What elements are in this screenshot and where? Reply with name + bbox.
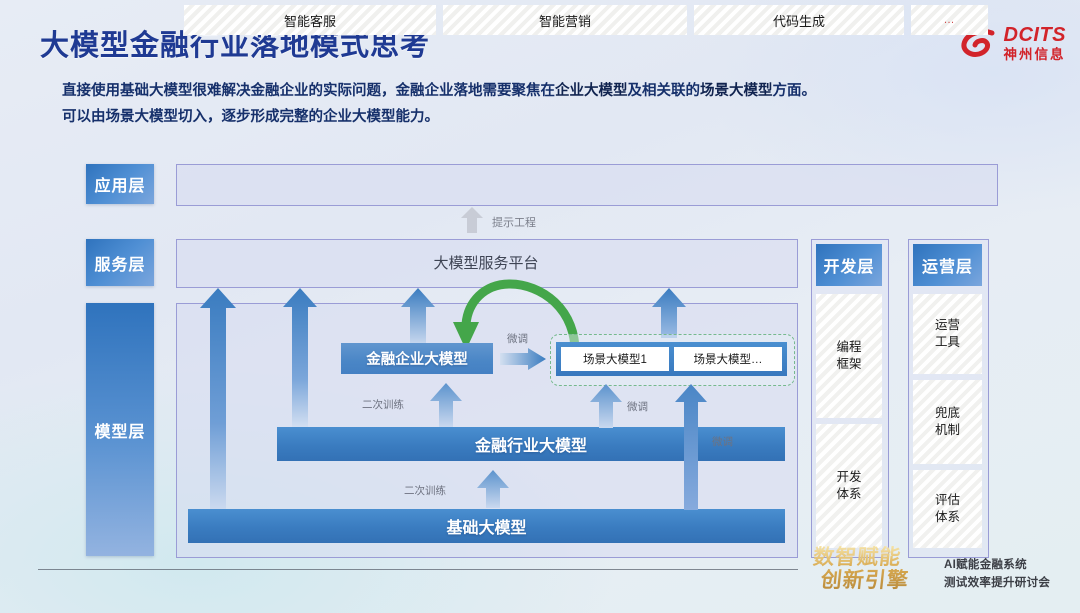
up-arrow-finetune-industry-to-scene-icon xyxy=(590,384,622,428)
layer-tag-service: 服务层 xyxy=(86,239,154,286)
scene-cell-1-label: 场景大模型1 xyxy=(583,351,647,367)
up-arrow-base-to-service-icon xyxy=(200,288,236,513)
application-cell-marketing[interactable]: 智能营销 xyxy=(443,5,687,35)
right-arrow-finetune-enterprise-to-scene-icon xyxy=(500,348,546,370)
subtitle-part-2: 及相关联的 xyxy=(628,83,701,99)
dev-cell-line2: 体系 xyxy=(836,487,861,501)
ops-cell-line2: 机制 xyxy=(935,423,960,437)
layer-tag-service-label: 服务层 xyxy=(94,251,145,275)
up-arrow-retrain-base-to-industry-icon xyxy=(477,470,509,508)
bar-enterprise-model-label: 金融企业大模型 xyxy=(366,348,468,369)
logo-en: DCITS xyxy=(1004,25,1067,45)
ops-cell-line2: 体系 xyxy=(935,510,960,524)
bar-enterprise-model[interactable]: 金融企业大模型 xyxy=(341,343,493,374)
layer-tag-model: 模型层 xyxy=(86,303,154,556)
dcits-logo-text: DCITS 神州信息 xyxy=(1004,25,1067,62)
bar-base-model-label: 基础大模型 xyxy=(446,514,526,538)
application-cell-more[interactable]: … xyxy=(911,5,988,35)
page-subtitle: 直接使用基础大模型很难解决金融企业的实际问题，金融企业落地需要聚焦在企业大模型及… xyxy=(62,78,992,130)
subtitle-part-3: 方面。 xyxy=(773,83,817,99)
dev-cell-line1: 开发 xyxy=(836,470,861,484)
layer-tag-model-label: 模型层 xyxy=(94,418,145,442)
application-cell-customer-service[interactable]: 智能客服 xyxy=(184,5,436,35)
ops-cell-line2: 工具 xyxy=(935,335,960,349)
layer-tag-application: 应用层 xyxy=(86,164,154,204)
event-subtitle-line2: 测试效率提升研讨会 xyxy=(944,574,1050,592)
slide-root: 大模型金融行业落地模式思考 直接使用基础大模型很难解决金融企业的实际问题，金融企… xyxy=(0,0,1080,613)
dev-layer-title-label: 开发层 xyxy=(823,253,874,277)
ops-cell-evaluation-system[interactable]: 评估 体系 xyxy=(913,470,982,548)
subtitle-line-2: 可以由场景大模型切入，逐步形成完整的企业大模型能力。 xyxy=(62,109,439,125)
label-retrain-base: 二次训练 xyxy=(404,483,446,498)
dev-layer-title: 开发层 xyxy=(816,244,882,286)
label-finetune-base-to-scene: 微调 xyxy=(712,434,733,449)
up-arrow-finetune-base-to-scene-icon xyxy=(675,384,707,510)
subtitle-part-1: 直接使用基础大模型很难解决金融企业的实际问题，金融企业落地需要聚焦在 xyxy=(62,83,555,99)
up-arrow-scene-to-service-icon xyxy=(652,288,686,338)
bar-base-model[interactable]: 基础大模型 xyxy=(188,509,785,543)
application-cell-label: … xyxy=(944,14,956,26)
logo-cn: 神州信息 xyxy=(1004,48,1067,62)
bar-industry-model-label: 金融行业大模型 xyxy=(475,432,587,456)
application-layer-panel xyxy=(176,164,998,206)
footer-divider xyxy=(38,569,798,570)
event-watermark-line1: 数智赋能 xyxy=(812,546,934,569)
dev-cell-line2: 框架 xyxy=(836,357,861,371)
label-finetune-industry-to-scene: 微调 xyxy=(627,399,648,414)
prompt-engineering-arrow-icon xyxy=(461,207,483,233)
event-watermark: 数智赋能 创新引擎 xyxy=(810,546,935,592)
layer-tag-application-label: 应用层 xyxy=(94,172,145,196)
prompt-engineering-label: 提示工程 xyxy=(492,214,536,230)
dev-cell-dev-system[interactable]: 开发 体系 xyxy=(816,424,882,548)
scene-cell-2[interactable]: 场景大模型… xyxy=(674,347,782,371)
event-subtitle: AI赋能金融系统 测试效率提升研讨会 xyxy=(944,556,1050,592)
ops-layer-title: 运营层 xyxy=(913,244,982,286)
application-cell-code-generation[interactable]: 代码生成 xyxy=(694,5,904,35)
application-cell-label: 智能客服 xyxy=(284,11,336,30)
up-arrow-retrain-industry-to-enterprise-icon xyxy=(430,383,462,427)
event-watermark-line2: 创新引擎 xyxy=(820,569,932,592)
scene-cell-2-label: 场景大模型… xyxy=(694,351,763,367)
ops-cell-line1: 兜底 xyxy=(935,406,960,420)
scene-cell-1[interactable]: 场景大模型1 xyxy=(561,347,669,371)
dev-cell-programming-framework[interactable]: 编程 框架 xyxy=(816,294,882,418)
dev-cell-line1: 编程 xyxy=(836,340,861,354)
subtitle-emph-enterprise: 企业大模型 xyxy=(555,83,628,99)
up-arrow-industry-to-service-icon xyxy=(283,288,317,428)
up-arrow-enterprise-to-service-icon xyxy=(401,288,435,344)
ops-cell-line1: 运营 xyxy=(935,318,960,332)
event-subtitle-line1: AI赋能金融系统 xyxy=(944,556,1050,574)
ops-cell-fallback-mechanism[interactable]: 兜底 机制 xyxy=(913,380,982,464)
application-cell-label: 代码生成 xyxy=(773,11,825,30)
label-finetune-enterprise-to-scene: 微调 xyxy=(507,331,528,346)
ops-cell-operation-tools[interactable]: 运营 工具 xyxy=(913,294,982,374)
application-cell-label: 智能营销 xyxy=(539,11,591,30)
subtitle-emph-scene: 场景大模型 xyxy=(700,83,773,99)
bar-industry-model[interactable]: 金融行业大模型 xyxy=(277,427,785,461)
ops-layer-title-label: 运营层 xyxy=(922,253,973,277)
scene-model-bar: 场景大模型1 场景大模型… xyxy=(556,342,787,376)
label-retrain-industry: 二次训练 xyxy=(362,397,404,412)
ops-cell-line1: 评估 xyxy=(935,493,960,507)
